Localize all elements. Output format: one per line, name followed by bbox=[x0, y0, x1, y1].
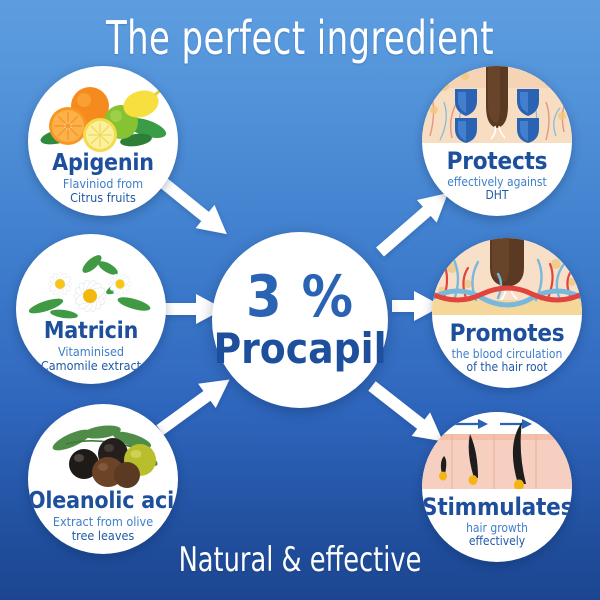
ingredient-subtitle-line1: Extract from olive bbox=[28, 515, 178, 529]
benefit-subtitle-line2: DHT bbox=[422, 189, 572, 202]
benefit-subtitle: hair growth effectively bbox=[422, 522, 572, 549]
brand-name: Procapil bbox=[213, 327, 386, 371]
benefit-card-protects[interactable]: Protects effectively against DHT bbox=[422, 66, 572, 216]
benefit-subtitle-line2: of the hair root bbox=[432, 361, 582, 374]
ingredient-labels: Oleanolic acid Extract from olive tree l… bbox=[28, 488, 178, 543]
benefit-card-stimmulates[interactable]: Stimmulates hair growth effectively bbox=[422, 412, 572, 562]
ingredient-card-apigenin[interactable]: Apigenin Flaviniod from Citrus fruits bbox=[28, 66, 178, 216]
hair-growth-stages-icon bbox=[422, 412, 572, 489]
ingredient-subtitle-line1: Vitaminised bbox=[16, 345, 166, 359]
benefit-name: Protects bbox=[422, 148, 572, 175]
benefit-name: Promotes bbox=[432, 320, 582, 347]
ingredient-card-oleanolic-acid[interactable]: Oleanolic acid Extract from olive tree l… bbox=[28, 404, 178, 554]
benefit-labels: Stimmulates hair growth effectively bbox=[422, 494, 572, 549]
ingredient-card-matricin[interactable]: Matricin Vitaminised Camomile extract bbox=[16, 234, 166, 384]
benefit-subtitle-line1: effectively against bbox=[422, 176, 572, 189]
ingredient-subtitle: Extract from olive tree leaves bbox=[28, 515, 178, 543]
ingredient-subtitle: Vitaminised Camomile extract bbox=[16, 345, 166, 373]
ingredient-name: Apigenin bbox=[28, 150, 178, 176]
center-badge[interactable]: 3 % Procapil bbox=[212, 232, 388, 408]
olives-icon bbox=[28, 418, 178, 492]
hair-root-blood-vessels-icon bbox=[432, 238, 582, 315]
ingredient-labels: Apigenin Flaviniod from Citrus fruits bbox=[28, 150, 178, 205]
benefit-name: Stimmulates bbox=[422, 494, 572, 521]
infographic-poster: The perfect ingredient bbox=[0, 0, 600, 600]
ingredient-name: Matricin bbox=[16, 318, 166, 344]
percentage-value: 3 % bbox=[246, 269, 354, 325]
citrus-fruits-icon bbox=[28, 80, 178, 154]
benefit-labels: Promotes the blood circulation of the ha… bbox=[432, 320, 582, 375]
ingredient-labels: Matricin Vitaminised Camomile extract bbox=[16, 318, 166, 373]
benefit-subtitle: effectively against DHT bbox=[422, 176, 572, 203]
camomile-flowers-icon bbox=[16, 248, 166, 322]
benefit-subtitle-line1: hair growth bbox=[422, 522, 572, 535]
ingredient-subtitle: Flaviniod from Citrus fruits bbox=[28, 177, 178, 205]
benefit-labels: Protects effectively against DHT bbox=[422, 148, 572, 203]
benefit-subtitle-line2: effectively bbox=[422, 535, 572, 548]
ingredient-name: Oleanolic acid bbox=[28, 488, 178, 514]
hair-follicle-shields-icon bbox=[422, 66, 572, 143]
ingredient-subtitle-line2: tree leaves bbox=[28, 529, 178, 543]
benefit-subtitle: the blood circulation of the hair root bbox=[432, 348, 582, 375]
ingredient-subtitle-line2: Camomile extract bbox=[16, 359, 166, 373]
ingredient-subtitle-line1: Flaviniod from bbox=[28, 177, 178, 191]
benefit-subtitle-line1: the blood circulation bbox=[432, 348, 582, 361]
benefit-card-promotes[interactable]: Promotes the blood circulation of the ha… bbox=[432, 238, 582, 388]
ingredient-subtitle-line2: Citrus fruits bbox=[28, 191, 178, 205]
